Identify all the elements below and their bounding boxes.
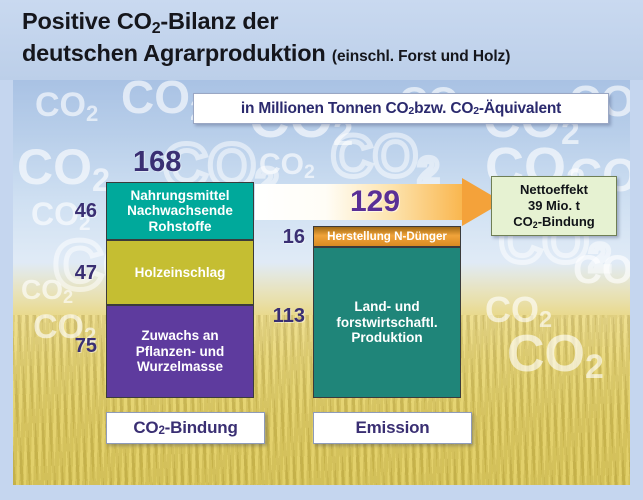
right-total-value: 129 — [350, 185, 400, 219]
left-value-holzeinschlag: 47 — [31, 262, 97, 285]
caption-emission: Emission — [313, 412, 472, 444]
units-subscript-2: 2 — [473, 105, 479, 117]
left-value-nahrungsmittel: 46 — [31, 200, 97, 223]
caption-subscript: 2 — [158, 425, 164, 437]
emission-arrow: 129 — [255, 178, 503, 226]
page-title-line1: Positive CO2-Bilanz der — [22, 8, 278, 35]
title-subscript-1: 2 — [152, 20, 161, 37]
co2-watermark-glyph: CO2 — [17, 142, 110, 192]
bar-label-nahrungsmittel: NahrungsmittelNachwachsendeRohstoffe — [123, 188, 237, 235]
caption-bindung-text: -Bindung — [165, 418, 238, 438]
units-text-suffix: -Äquivalent — [479, 100, 561, 118]
net-effect-binding: -Bindung — [538, 214, 595, 229]
right-value-produktion: 113 — [231, 305, 305, 328]
units-text-prefix: in Millionen Tonnen CO — [241, 100, 409, 118]
bar-segment-ndünger: Herstellung N-Dünger — [313, 226, 461, 247]
infographic-poster: Positive CO2-Bilanz der deutschen Agrarp… — [0, 0, 643, 500]
bar-segment-produktion: Land- undforstwirtschaftl.Produktion — [313, 247, 461, 398]
bar-label-produktion: Land- undforstwirtschaftl.Produktion — [332, 299, 441, 346]
co2-watermark-glyph: CO2 — [35, 88, 98, 122]
net-effect-line1: Nettoeffekt — [520, 182, 588, 198]
net-effect-box: Nettoeffekt 39 Mio. t CO2-Bindung — [491, 176, 617, 236]
left-total-value: 168 — [133, 146, 217, 179]
bar-label-holzeinschlag: Holzeinschlag — [131, 265, 230, 281]
bar-segment-nahrungsmittel: NahrungsmittelNachwachsendeRohstoffe — [106, 182, 254, 240]
title-parenthetical: (einschl. Forst und Holz) — [332, 48, 510, 65]
title-area: Positive CO2-Bilanz der deutschen Agrarp… — [0, 0, 643, 80]
page-title-line2: deutschen Agrarproduktion (einschl. Fors… — [22, 40, 510, 67]
units-text-middle: bzw. CO — [414, 100, 473, 118]
title-text-part1: Positive CO — [22, 8, 152, 34]
co2-watermark-glyph: CO2 — [259, 150, 315, 180]
bar-label-ndünger: Herstellung N-Dünger — [323, 230, 451, 243]
left-value-zuwachs: 75 — [31, 335, 97, 358]
bar-label-zuwachs: Zuwachs anPflanzen- undWurzelmasse — [132, 328, 229, 375]
units-subscript-1: 2 — [408, 105, 414, 117]
caption-co2-bindung: CO2-Bindung — [106, 412, 265, 444]
right-value-ndünger: 16 — [241, 226, 305, 249]
scene-frame: CO2CO2CO2CO2CO2CO2CO2CO2CO2CO2CO2CO2CO2C… — [13, 80, 630, 485]
caption-co-text: CO — [133, 418, 158, 438]
net-effect-line2: 39 Mio. t — [528, 198, 580, 214]
bar-segment-holzeinschlag: Holzeinschlag — [106, 240, 254, 305]
units-banner: in Millionen Tonnen CO2 bzw. CO2-Äquival… — [193, 93, 609, 124]
net-effect-subscript: 2 — [533, 220, 538, 230]
net-effect-co: CO — [513, 214, 533, 229]
net-effect-line3: CO2-Bindung — [513, 214, 594, 230]
title-text-main: deutschen Agrarproduktion — [22, 40, 326, 66]
title-text-part2: -Bilanz der — [160, 8, 278, 34]
